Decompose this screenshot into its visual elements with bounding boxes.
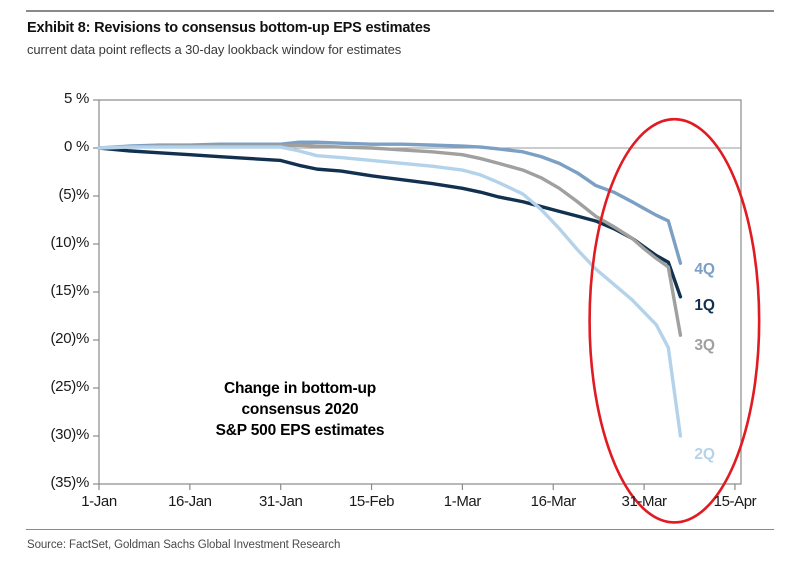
series-label-4q: 4Q [694,261,714,279]
y-tick-label: 5 % [11,90,89,107]
x-tick-label: 15-Apr [714,493,757,510]
x-tick-label: 31-Mar [622,493,667,510]
ellipse-annotation-layer [590,119,760,522]
y-tick-label: (5)% [11,186,89,203]
y-tick-label: (30)% [11,426,89,443]
x-tick-label: 16-Mar [531,493,576,510]
y-tick-label: 0 % [11,138,89,155]
series-line-4q [99,142,680,263]
y-tick-label: (35)% [11,474,89,491]
exhibit-panel: Exhibit 8: Revisions to consensus bottom… [0,0,800,566]
annotation-line-1: Change in bottom-up [160,378,440,399]
y-tick-label: (25)% [11,378,89,395]
series-label-2q: 2Q [694,446,714,464]
series-line-1q [99,148,680,297]
footer-divider [26,529,774,530]
annotation-line-3: S&P 500 EPS estimates [160,420,440,441]
series-line-3q [99,145,680,335]
x-tick-label: 1-Mar [444,493,481,510]
series-label-1q: 1Q [694,297,714,315]
chart-plot-area: 5 %0 %(5)%(10)%(15)%(20)%(25)%(30)%(35)%… [0,0,800,566]
y-tick-label: (15)% [11,282,89,299]
x-tick-label: 16-Jan [168,493,211,510]
x-tick-label: 15-Feb [349,493,394,510]
y-tick-label: (10)% [11,234,89,251]
annotation-line-2: consensus 2020 [160,399,440,420]
series-label-3q: 3Q [694,337,714,355]
x-tick-label: 31-Jan [259,493,302,510]
y-tick-label: (20)% [11,330,89,347]
source-note: Source: FactSet, Goldman Sachs Global In… [27,539,340,551]
x-tick-label: 1-Jan [81,493,117,510]
chart-annotation-text: Change in bottom-up consensus 2020 S&P 5… [160,378,440,441]
chart-svg [0,0,800,566]
